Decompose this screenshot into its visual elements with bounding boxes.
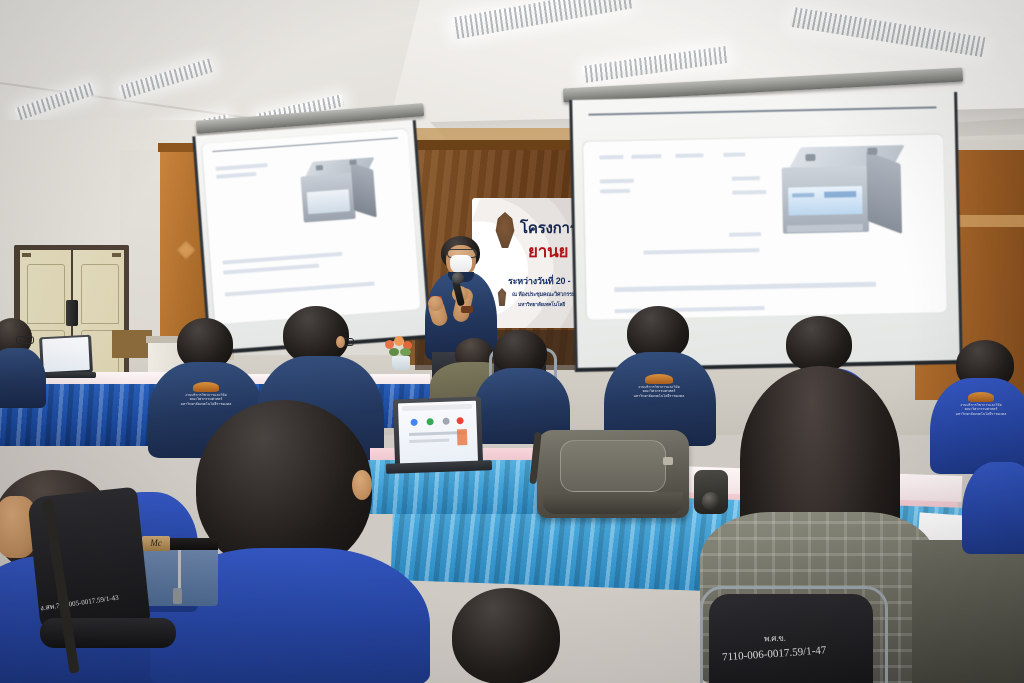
slide-text-block (729, 232, 761, 237)
speaker-watch (461, 306, 473, 313)
door-hinge-top-left (22, 253, 31, 257)
attendee-row1-center-ear (336, 336, 345, 348)
uniform-logo-text: งานบริการวิชาการและวิจัย คณะวิศวกรรมศาสต… (953, 403, 1009, 416)
door-hinge-top-right (112, 253, 121, 257)
laptop-front-lid (393, 396, 483, 469)
uniform-logo-mark (645, 374, 673, 384)
browser-icon (426, 418, 433, 425)
attendee-left-back-glasses (16, 336, 34, 344)
attendee-left-back-shirt (0, 348, 46, 408)
uniform-logo-line3: มหาวิทยาลัยเทคโนโลยีราชมงคล (632, 394, 686, 398)
left-slide (202, 129, 421, 325)
uniform-logo-mark (968, 392, 994, 402)
chair-back-foreground-right (709, 594, 873, 683)
attendee-foreground-center-head (196, 400, 372, 572)
speaker-hand-left (428, 296, 443, 311)
browser-icon (456, 417, 463, 424)
attendee-foreground-center-ear (352, 470, 372, 500)
chair-asset-tag-front: พ.ศ.ข. (764, 632, 786, 646)
slide-rule (212, 137, 398, 152)
uniform-logo-line3: มหาวิทยาลัยเทคโนโลยีราชมงคล (180, 402, 232, 406)
laptop-bag-buckle (663, 457, 673, 465)
attendee-edge-right (912, 540, 1024, 683)
slide-text-block (216, 163, 268, 171)
battery-terminal (349, 160, 356, 165)
slide-title-rule (588, 106, 936, 115)
laptop-back-screen (42, 337, 90, 372)
page-content-block (409, 439, 449, 443)
uniform-logo-line3: มหาวิทยาลัยเทคโนโลยีราชมงคล (953, 412, 1009, 416)
banner-date-line: ระหว่างวันที่ 20 - (508, 274, 570, 288)
right-slide (583, 134, 947, 320)
slide-text-block (222, 252, 342, 265)
flower-leaf (400, 348, 411, 356)
browser-toolbar (402, 404, 472, 411)
microphone-head-icon[interactable] (452, 272, 464, 284)
door-handle[interactable] (66, 300, 78, 326)
attendee-foreground-right-head (452, 588, 560, 683)
chair-seat-foreground-left (40, 618, 176, 648)
banner-org-line: มหาวิทยาลัยเทคโนโลยี (518, 301, 565, 309)
door-panel (81, 264, 119, 324)
laptop-back-lid (39, 335, 93, 376)
battery-label-text (792, 193, 814, 197)
battery-illustration-right (771, 145, 915, 252)
battery-terminal (805, 154, 815, 161)
laptop-bag-front-panel (560, 440, 666, 492)
slide-text-block (631, 154, 661, 159)
slide-text-block (723, 152, 745, 156)
slide-text-block (732, 176, 760, 181)
wood-base-block (112, 330, 152, 358)
keychain (178, 550, 181, 590)
slide-text-block (675, 153, 703, 158)
laptop-front-screen (398, 401, 478, 465)
battery-label-text (824, 191, 856, 198)
key-icon (173, 588, 182, 604)
battery-side-face (866, 151, 902, 234)
browser-icon (442, 418, 449, 425)
page-accent-bar (457, 429, 468, 445)
attendee-row2-right-head (786, 316, 852, 372)
banner-title-line1: โครงการ (520, 216, 578, 240)
slide-text-block (614, 282, 876, 292)
belt-buckle: Mc (142, 536, 170, 551)
battery-terminal (316, 165, 323, 170)
attendee-edge-right-shoulder (962, 462, 1024, 554)
slide-text-block (643, 248, 759, 254)
flower-leaf (389, 348, 399, 356)
uniform-logo-text: งานบริการวิชาการและวิจัย คณะวิศวกรรมศาสต… (180, 393, 232, 406)
slide-text-block (216, 172, 256, 179)
uniform-logo-text: งานบริการวิชาการและวิจัย คณะวิศวกรรมศาสต… (632, 385, 686, 398)
battery-illustration-left (294, 157, 385, 233)
camera-lens-icon (702, 492, 720, 510)
battery-label (307, 189, 350, 214)
slide-text-block (600, 189, 630, 194)
wood-column-diamond-motif (176, 240, 196, 260)
slide-text-block (600, 179, 634, 184)
slide-text-block (223, 264, 319, 275)
uniform-logo-mark (193, 382, 219, 392)
slide-text-block (225, 282, 375, 297)
battery-side-face (351, 163, 377, 218)
flower-vase (392, 356, 410, 370)
battery-terminal (867, 148, 877, 155)
laptop-bag-base-fold (543, 492, 683, 514)
door-panel (27, 264, 65, 324)
slide-text-block (599, 155, 623, 160)
browser-icon (410, 419, 417, 426)
photo-scene: โครงการ ยานย ระหว่างวันที่ 20 - ณ ห้องปร… (0, 0, 1024, 683)
slide-text-block (732, 190, 766, 195)
banner-title-line2: ยานย (528, 238, 568, 265)
